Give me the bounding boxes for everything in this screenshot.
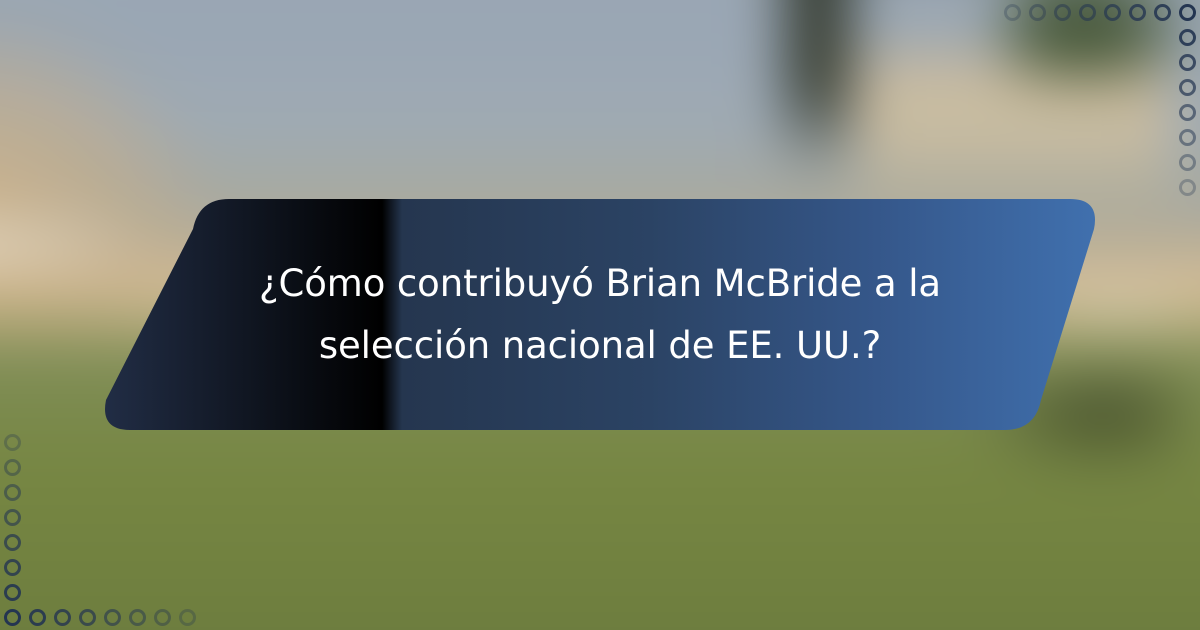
screenshot-canvas: ¿Cómo contribuyó Brian McBride a la sele…	[0, 0, 1200, 630]
page-title: ¿Cómo contribuyó Brian McBride a la sele…	[220, 253, 980, 377]
background-tree	[1003, 0, 1183, 82]
title-text-container: ¿Cómo contribuyó Brian McBride a la sele…	[95, 199, 1105, 430]
background-pole	[786, 0, 852, 172]
